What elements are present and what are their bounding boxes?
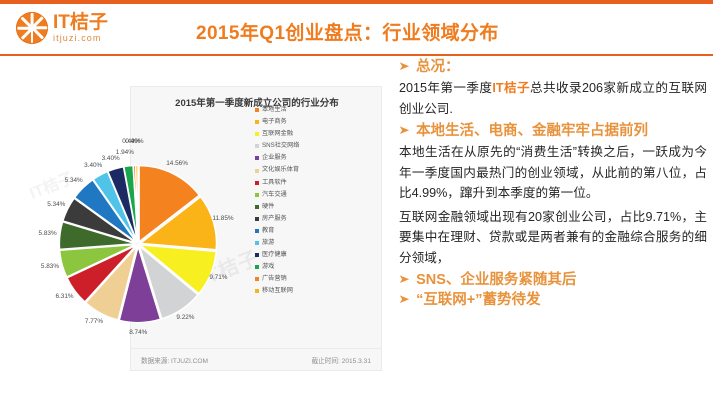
bullet-2-heading: 本地生活、电商、金融牢牢占据前列 [416,122,648,140]
legend-swatch-icon [255,169,259,173]
pie-percent-label: 1.94% [116,149,134,156]
legend-item[interactable]: 游戏 [255,261,315,273]
summary-text-panel: ➤ 总况： 2015年第一季度IT桔子总共收录206家新成立的互联网创业公司. … [399,58,707,403]
legend-item[interactable]: 旅游 [255,237,315,249]
legend-item[interactable]: 广告营销 [255,273,315,285]
bullet-1-paragraph: 2015年第一季度IT桔子总共收录206家新成立的互联网创业公司. [399,78,707,119]
pie-percent-label: 7.77% [85,318,103,325]
logo[interactable]: IT桔子 itjuzi.com [16,12,108,44]
legend-item[interactable]: 硬件 [255,201,315,213]
legend-label: 旅游 [262,240,274,246]
logo-name: IT桔子 [53,13,108,32]
pie-percent-label: 11.85% [212,215,233,222]
legend-swatch-icon [255,205,259,209]
page-header: IT桔子 itjuzi.com 2015年Q1创业盘点：行业领域分布 [0,4,713,54]
orange-slice-icon [16,12,48,44]
legend-label: 游戏 [262,264,274,270]
arrow-bullet-icon: ➤ [398,58,410,75]
pie-percent-label: 3.40% [102,155,120,162]
legend-item[interactable]: 本地生活 [255,104,315,116]
legend-swatch-icon [255,156,259,160]
legend-item[interactable]: 房产服务 [255,213,315,225]
legend-label: 工具软件 [262,180,287,186]
legend-swatch-icon [255,289,259,293]
legend-label: 医疗健康 [262,252,287,258]
legend-item[interactable]: 汽车交通 [255,189,315,201]
legend-swatch-icon [255,253,259,257]
pie-percent-label: 5.34% [47,201,65,208]
bullet-4: ➤ “互联网+”蓄势待发 [399,291,707,309]
legend-swatch-icon [255,193,259,197]
legend-swatch-icon [255,277,259,281]
bullet-2-paragraph-1: 本地生活在从原先的“消费生活”转换之后，一跃成为今年一季度国内最热门的创业领域，… [399,142,707,204]
page-title: 2015年Q1创业盘点：行业领域分布 [196,18,499,45]
pie-percent-label: 6.31% [55,293,73,300]
logo-text: IT桔子 itjuzi.com [53,13,108,43]
pie-percent-label: 5.83% [39,230,57,237]
legend-item[interactable]: 医疗健康 [255,249,315,261]
legend-swatch-icon [255,132,259,136]
legend-swatch-icon [255,144,259,148]
legend-swatch-icon [255,108,259,112]
pie-percent-label: 5.34% [65,177,83,184]
arrow-bullet-icon: ➤ [398,291,410,308]
legend-swatch-icon [255,181,259,185]
legend-swatch-icon [255,265,259,269]
pie-chart [8,62,391,402]
legend-item[interactable]: 教育 [255,225,315,237]
legend-item[interactable]: SNS社交网络 [255,140,315,152]
legend-label: 移动互联网 [262,288,293,294]
legend-label: SNS社交网络 [262,143,299,149]
bullet-4-heading: “互联网+”蓄势待发 [416,291,540,309]
legend-label: 广告营销 [262,276,287,282]
legend-item[interactable]: 互联网金融 [255,128,315,140]
header-divider [0,54,713,56]
chart-panel: 2015年第一季度新成立公司的行业分布 数据来源: ITJUZI.COM 截止时… [8,62,391,402]
legend-item[interactable]: 电子商务 [255,116,315,128]
legend-item[interactable]: 移动互联网 [255,285,315,297]
logo-url: itjuzi.com [53,34,108,43]
legend-label: 企业服务 [262,155,287,161]
bullet-3: ➤ SNS、企业服务紧随其后 [399,271,707,289]
pie-slices [59,165,216,322]
legend-label: 房产服务 [262,216,287,222]
legend-label: 汽车交通 [262,192,287,198]
bullet-1-heading: 总况： [416,58,460,76]
b1-text-a: 2015年第一季度 [399,81,492,95]
pie-percent-label: 9.22% [176,314,194,321]
legend-swatch-icon [255,229,259,233]
legend-label: 文化娱乐体育 [262,167,299,173]
legend-item[interactable]: 工具软件 [255,177,315,189]
arrow-bullet-icon: ➤ [398,271,410,288]
b1-brand: IT桔子 [492,81,530,95]
legend-label: 教育 [262,228,274,234]
legend-label: 硬件 [262,204,274,210]
legend-swatch-icon [255,241,259,245]
pie-percent-label: 3.40% [84,162,102,169]
chart-legend: 本地生活电子商务互联网金融SNS社交网络企业服务文化娱乐体育工具软件汽车交通硬件… [255,104,315,298]
bullet-1: ➤ 总况： [399,58,707,76]
bullet-3-heading: SNS、企业服务紧随其后 [416,271,576,289]
bullet-2-paragraph-2: 互联网金融领域出现有20家创业公司，占比9.71%，主要集中在理财、贷款或是两者… [399,207,707,269]
bullet-2: ➤ 本地生活、电商、金融牢牢占据前列 [399,122,707,140]
pie-percent-label: 8.74% [129,329,147,336]
pie-percent-label: 9.71% [209,274,227,281]
pie-percent-label: 5.83% [41,263,59,270]
legend-label: 互联网金融 [262,131,293,137]
legend-item[interactable]: 企业服务 [255,152,315,164]
arrow-bullet-icon: ➤ [398,122,410,139]
legend-label: 电子商务 [262,119,287,125]
legend-label: 本地生活 [262,107,287,113]
pie-percent-label: 0.49% [125,138,143,145]
pie-percent-label: 14.56% [166,160,188,167]
legend-item[interactable]: 文化娱乐体育 [255,164,315,176]
legend-swatch-icon [255,120,259,124]
legend-swatch-icon [255,217,259,221]
